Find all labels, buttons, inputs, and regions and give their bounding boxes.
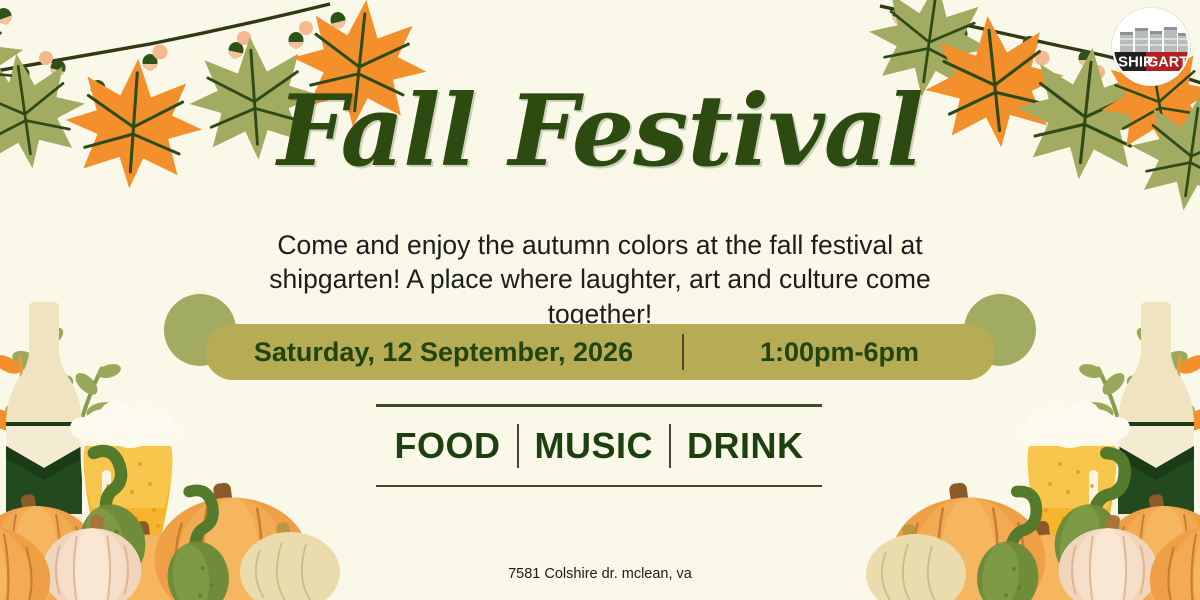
fall-festival-flyer: SHIP GARTEN Fall Festival Come and enjoy…	[0, 0, 1200, 600]
event-date: Saturday, 12 September, 2026	[205, 337, 682, 368]
features-row: FOOD MUSIC DRINK	[376, 407, 822, 485]
venue-address: 7581 Colshire dr. mclean, va	[0, 566, 1200, 582]
event-time: 1:00pm-6pm	[684, 337, 995, 368]
date-time-banner: Saturday, 12 September, 2026 1:00pm-6pm	[205, 324, 995, 380]
feature-food: FOOD	[379, 425, 517, 467]
feature-music: MUSIC	[519, 425, 670, 467]
poster-content: Fall Festival Come and enjoy the autumn …	[0, 0, 1200, 600]
page-title: Fall Festival	[0, 82, 1200, 182]
features-band: FOOD MUSIC DRINK	[376, 404, 822, 487]
features-rule-bottom	[376, 485, 822, 488]
event-description: Come and enjoy the autumn colors at the …	[225, 228, 975, 331]
feature-drink: DRINK	[671, 425, 820, 467]
shipgarten-logo: SHIP GARTEN	[1112, 8, 1190, 86]
shipgarten-logo-icon: SHIP GARTEN	[1112, 8, 1190, 86]
logo-word-garten: GARTEN	[1147, 55, 1190, 71]
